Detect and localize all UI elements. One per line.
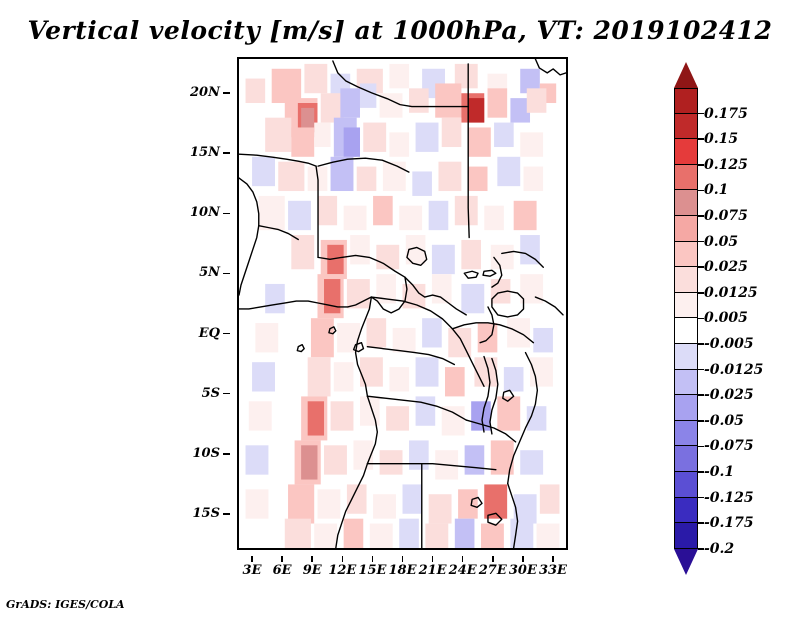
- colorbar-tick-label: 0.175: [704, 106, 748, 122]
- grads-attribution: GrADS: IGES/COLA: [6, 598, 125, 611]
- x-axis-tick-label: 3E: [243, 563, 262, 578]
- colorbar-tick-label: -0.175: [704, 515, 754, 531]
- y-axis-tick-mark: [223, 393, 230, 395]
- colorbar: 0.1750.150.1250.10.0750.050.0250.01250.0…: [660, 57, 795, 557]
- y-axis-tick-mark: [223, 273, 230, 275]
- colorbar-tick-mark: [698, 266, 704, 268]
- colorbar-tick-mark: [698, 113, 704, 115]
- colorbar-tick-label: -0.2: [704, 541, 734, 557]
- x-axis-tick-mark: [522, 556, 524, 562]
- colorbar-band: [674, 139, 698, 165]
- colorbar-tick-mark: [698, 343, 704, 345]
- y-axis: 20N15N10N5NEQ5S10S15S: [168, 57, 230, 550]
- colorbar-tick-label: 0.005: [704, 310, 748, 326]
- colorbar-band: [674, 446, 698, 472]
- x-axis-tick-label: 9E: [303, 563, 322, 578]
- colorbar-tick-mark: [698, 471, 704, 473]
- colorbar-band: [674, 165, 698, 191]
- x-axis-tick-label: 33E: [539, 563, 567, 578]
- colorbar-tick-mark: [698, 190, 704, 192]
- coastline-and-border-overlay: [239, 59, 566, 548]
- x-axis-tick-label: 30E: [509, 563, 537, 578]
- x-axis-tick-label: 12E: [328, 563, 356, 578]
- y-axis-tick-mark: [223, 213, 230, 215]
- colorbar-band: [674, 216, 698, 242]
- x-axis-tick-mark: [342, 556, 344, 562]
- colorbar-tick-mark: [698, 420, 704, 422]
- x-axis-tick-label: 15E: [358, 563, 386, 578]
- colorbar-tick-label: -0.025: [704, 387, 754, 403]
- colorbar-tick-mark: [698, 369, 704, 371]
- colorbar-band: [674, 318, 698, 344]
- colorbar-tick-mark: [698, 164, 704, 166]
- colorbar-band: [674, 293, 698, 319]
- colorbar-top-arrow-cap: [674, 62, 698, 88]
- colorbar-band: [674, 472, 698, 498]
- colorbar-band: [674, 267, 698, 293]
- x-axis-tick-mark: [432, 556, 434, 562]
- y-axis-tick-mark: [223, 152, 230, 154]
- colorbar-tick-mark: [698, 318, 704, 320]
- colorbar-tick-label: -0.05: [704, 413, 744, 429]
- colorbar-tick-mark: [698, 446, 704, 448]
- x-axis: 3E6E9E12E15E18E21E24E27E30E33E: [237, 556, 568, 578]
- colorbar-band: [674, 395, 698, 421]
- x-axis-tick-mark: [552, 556, 554, 562]
- y-axis-tick-mark: [223, 453, 230, 455]
- colorbar-tick-label: 0.075: [704, 208, 748, 224]
- x-axis-tick-mark: [311, 556, 313, 562]
- colorbar-tick-label: -0.1: [704, 464, 734, 480]
- colorbar-band: [674, 421, 698, 447]
- colorbar-tick-label: -0.125: [704, 490, 754, 506]
- colorbar-tick-mark: [698, 394, 704, 396]
- colorbar-tick-mark: [698, 241, 704, 243]
- x-axis-tick-mark: [402, 556, 404, 562]
- x-axis-tick-label: 24E: [449, 563, 477, 578]
- colorbar-band: [674, 88, 698, 114]
- page-title: Vertical velocity [m/s] at 1000hPa, VT: …: [0, 16, 800, 45]
- y-axis-tick-mark: [223, 513, 230, 515]
- colorbar-tick-label: -0.005: [704, 336, 754, 352]
- x-axis-tick-mark: [462, 556, 464, 562]
- colorbar-tick-label: 0.1: [704, 182, 728, 198]
- y-axis-tick-mark: [223, 333, 230, 335]
- x-axis-tick-label: 6E: [273, 563, 292, 578]
- x-axis-tick-label: 27E: [479, 563, 507, 578]
- colorbar-tick-label: 0.125: [704, 157, 748, 173]
- colorbar-tick-label: 0.025: [704, 259, 748, 275]
- y-axis-tick-mark: [223, 92, 230, 94]
- x-axis-tick-mark: [372, 556, 374, 562]
- colorbar-tick-mark: [698, 497, 704, 499]
- map-plot-area: [237, 57, 568, 550]
- colorbar-tick-mark: [698, 522, 704, 524]
- colorbar-band: [674, 114, 698, 140]
- colorbar-tick-mark: [698, 548, 704, 550]
- colorbar-tick-mark: [698, 292, 704, 294]
- x-axis-tick-mark: [492, 556, 494, 562]
- x-axis-tick-mark: [251, 556, 253, 562]
- x-axis-tick-label: 18E: [389, 563, 417, 578]
- colorbar-tick-label: 0.15: [704, 131, 738, 147]
- colorbar-band: [674, 344, 698, 370]
- colorbar-band: [674, 523, 698, 549]
- colorbar-tick-label: 0.05: [704, 234, 738, 250]
- colorbar-band: [674, 190, 698, 216]
- colorbar-bottom-arrow-cap: [674, 549, 698, 575]
- colorbar-band: [674, 242, 698, 268]
- x-axis-tick-mark: [281, 556, 283, 562]
- x-axis-tick-label: 21E: [419, 563, 447, 578]
- colorbar-bands: [674, 88, 698, 549]
- colorbar-tick-mark: [698, 138, 704, 140]
- colorbar-tick-mark: [698, 215, 704, 217]
- colorbar-tick-label: -0.075: [704, 438, 754, 454]
- colorbar-tick-label: 0.0125: [704, 285, 758, 301]
- colorbar-band: [674, 498, 698, 524]
- colorbar-tick-label: -0.0125: [704, 362, 763, 378]
- colorbar-band: [674, 370, 698, 396]
